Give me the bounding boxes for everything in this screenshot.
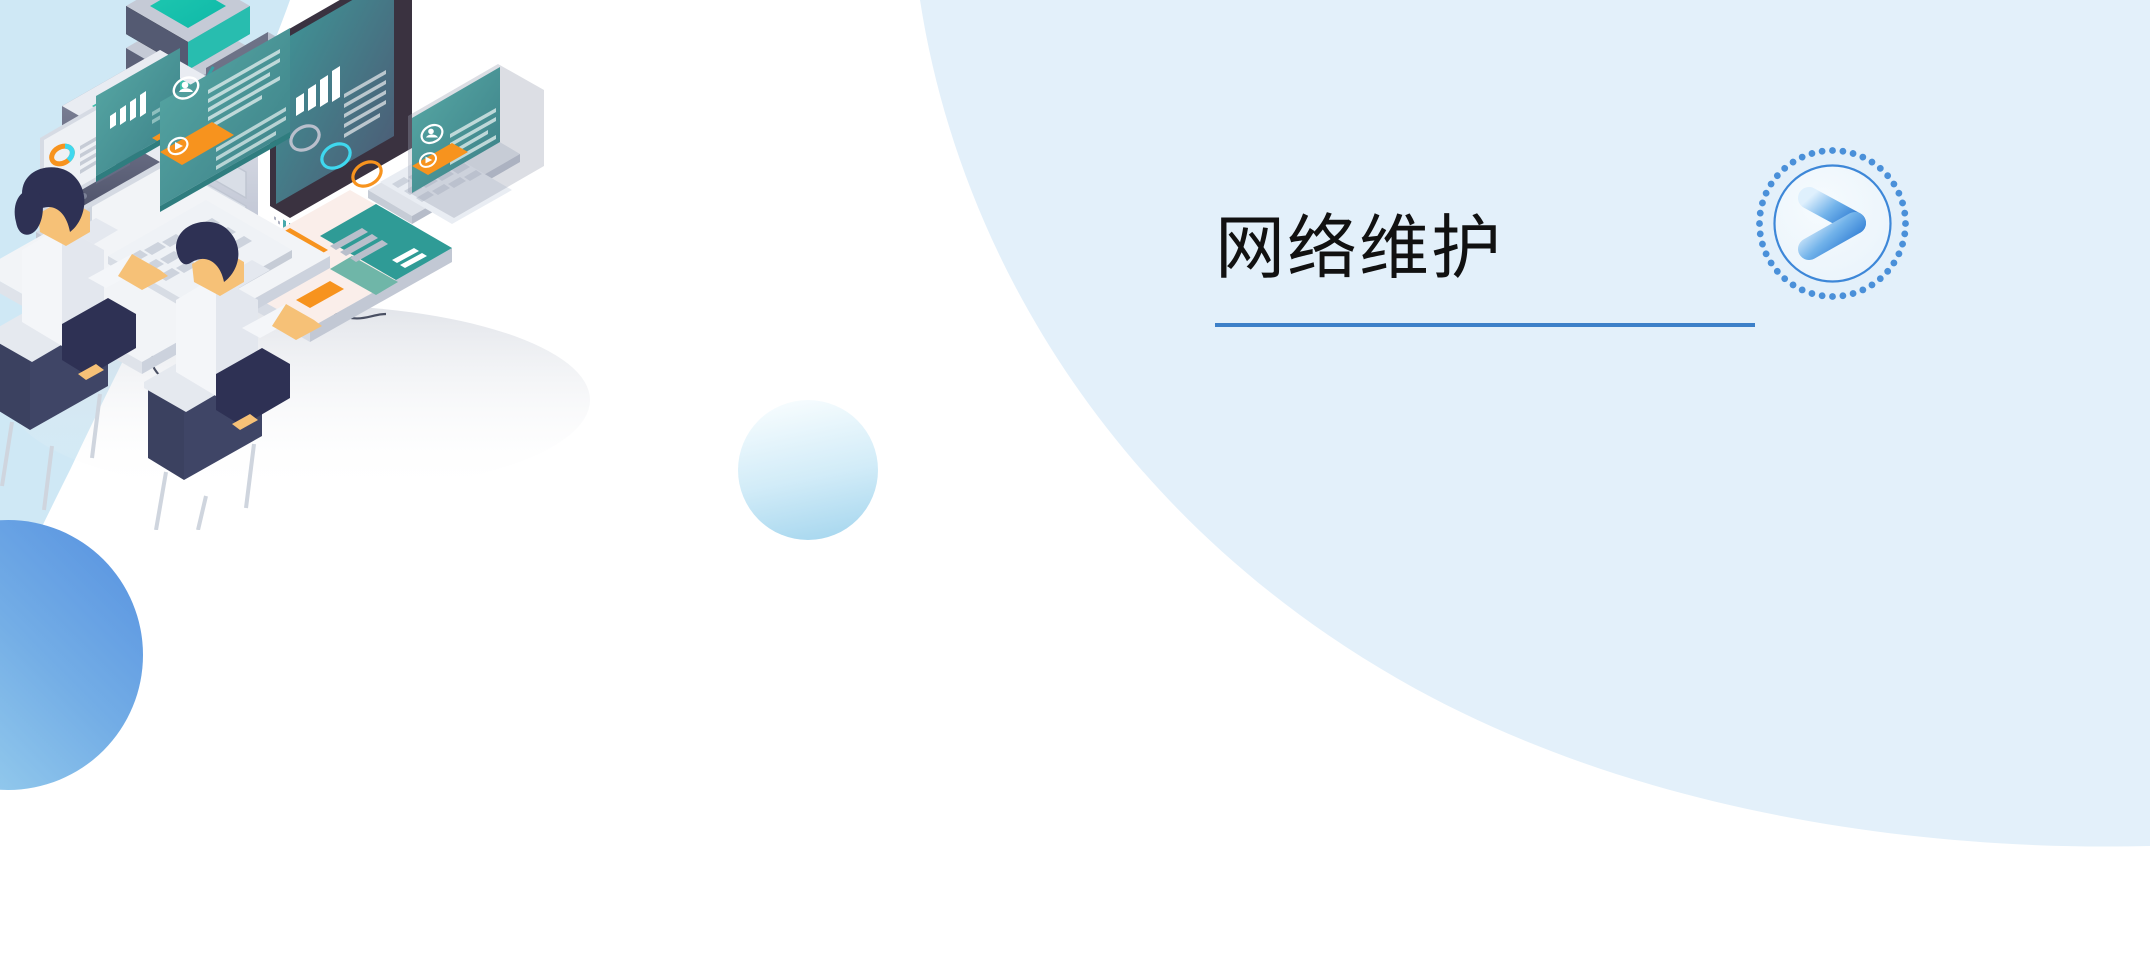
title-block: 网络维护 (1215, 205, 1760, 327)
isometric-network-operations-scene (0, 0, 760, 530)
page-title: 网络维护 (1215, 205, 1760, 291)
banner-root: 网络维护 (0, 0, 2150, 956)
title-underline (1215, 323, 1755, 327)
arrow-badge[interactable] (1755, 146, 1910, 301)
